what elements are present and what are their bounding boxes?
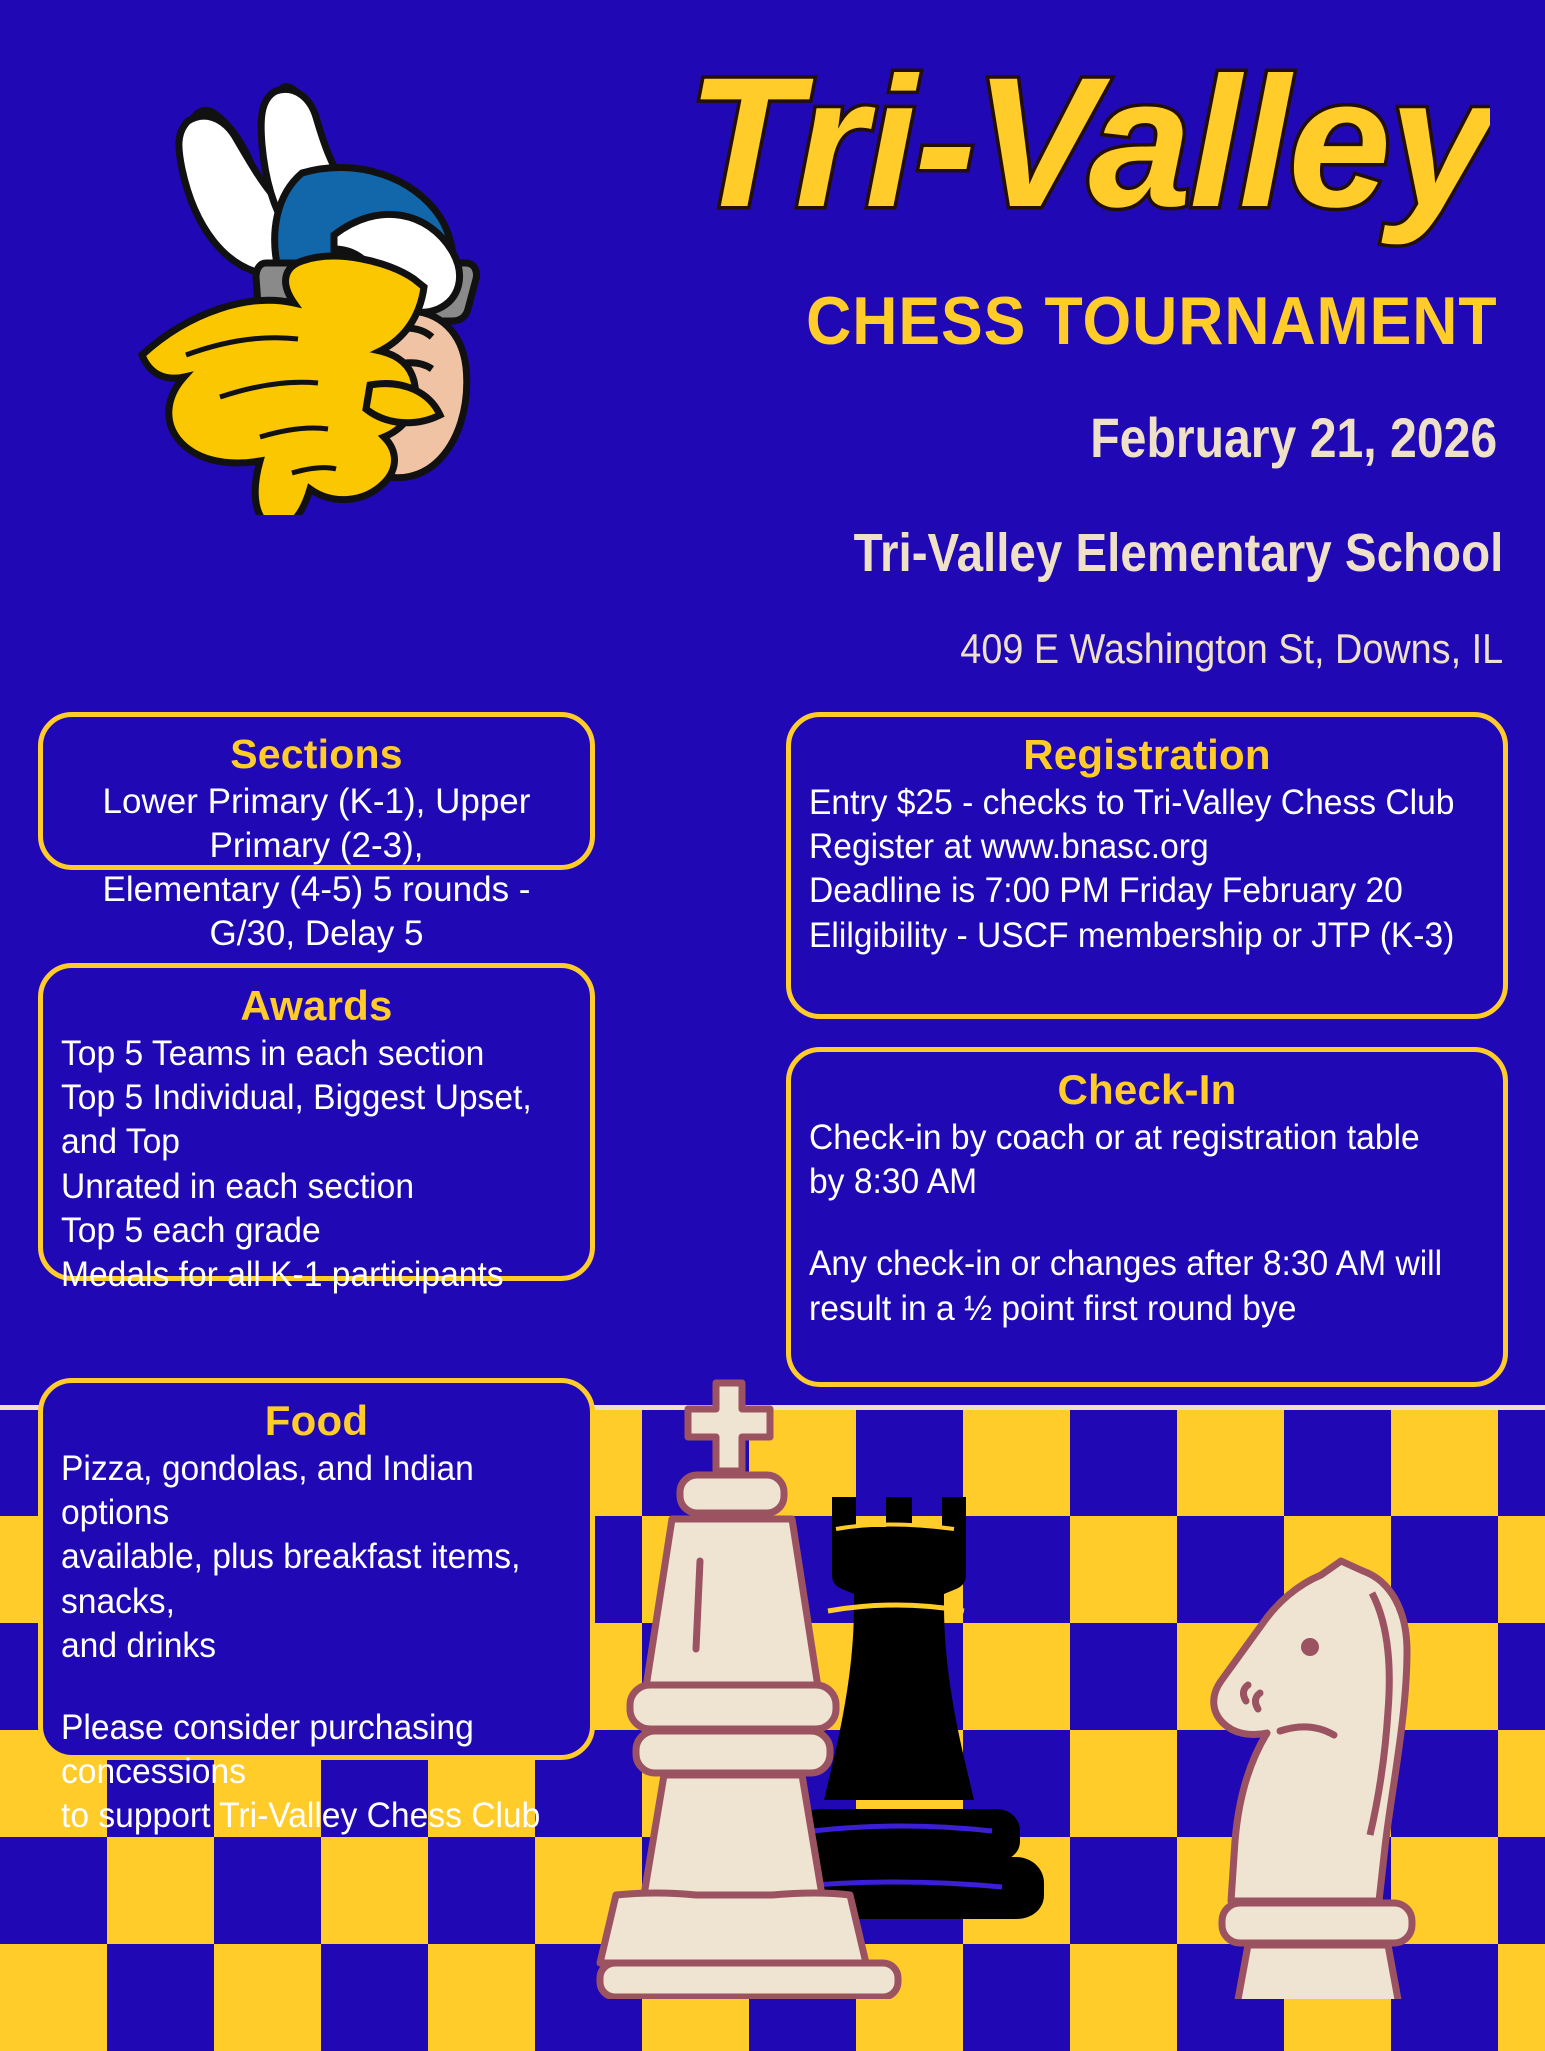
card-checkin-body-1: Check-in by coach or at registration tab… (809, 1116, 1458, 1204)
card-checkin: Check-In Check-in by coach or at registr… (786, 1047, 1508, 1387)
flyer-venue: Tri-Valley Elementary School (853, 522, 1503, 584)
white-knight-chess-piece (1188, 1561, 1488, 1999)
viking-mascot-logo (70, 25, 520, 515)
card-awards-heading: Awards (61, 982, 572, 1030)
knight-eye (1301, 1638, 1319, 1656)
king-highlight-line (696, 1561, 700, 1649)
card-registration-heading: Registration (809, 731, 1485, 779)
card-sections-body: Lower Primary (K-1), Upper Primary (2-3)… (61, 780, 572, 956)
card-checkin-heading: Check-In (809, 1066, 1485, 1114)
flyer-date: February 21, 2026 (1090, 405, 1497, 470)
card-sections-heading: Sections (61, 731, 572, 778)
card-food: Food Pizza, gondolas, and Indian options… (38, 1378, 595, 1760)
card-awards-body: Top 5 Teams in each section Top 5 Indivi… (61, 1032, 552, 1297)
card-checkin-body-2: Any check-in or changes after 8:30 AM wi… (809, 1242, 1458, 1330)
title-glyphs: Tri-Valley (687, 40, 1490, 246)
flyer-address: 409 E Washington St, Downs, IL (960, 625, 1503, 673)
card-food-body-2: Please consider purchasing concessions t… (61, 1706, 552, 1838)
flyer-title: Tri-Valley (560, 38, 1490, 268)
flyer-header: Tri-Valley CHESS TOURNAMENT February 21,… (0, 0, 1545, 700)
card-awards: Awards Top 5 Teams in each section Top 5… (38, 963, 595, 1281)
card-registration-body: Entry $25 - checks to Tri-Valley Chess C… (809, 781, 1458, 957)
flyer-subtitle: CHESS TOURNAMENT (806, 282, 1497, 360)
card-food-body-1: Pizza, gondolas, and Indian options avai… (61, 1447, 552, 1667)
card-registration: Registration Entry $25 - checks to Tri-V… (786, 712, 1508, 1019)
card-food-heading: Food (61, 1397, 572, 1445)
card-sections: Sections Lower Primary (K-1), Upper Prim… (38, 712, 595, 870)
